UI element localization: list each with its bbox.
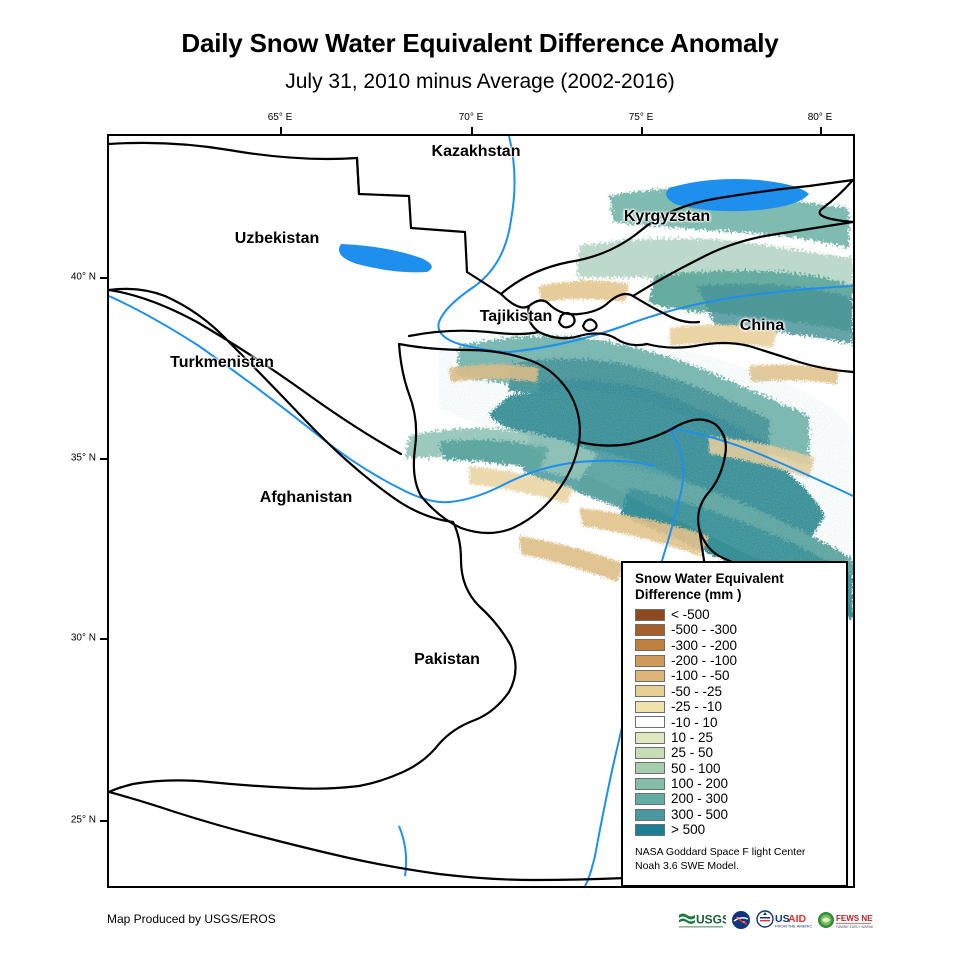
- legend-swatch-6: [635, 701, 665, 713]
- legend-row-6: -25 - -10: [635, 699, 836, 714]
- longitude-tick-label-3: 80° E: [808, 112, 833, 123]
- legend-label-8: 10 - 25: [671, 731, 713, 745]
- usaid-logo: US AID FROM THE AMERICAN PEOPLE: [756, 910, 812, 930]
- legend-row-14: > 500: [635, 822, 836, 837]
- legend-row-7: -10 - 10: [635, 715, 836, 730]
- map-credit: Map Produced by USGS/EROS: [107, 912, 276, 926]
- longitude-tick-mark-2: [641, 127, 643, 134]
- legend-label-1: -500 - -300: [671, 623, 737, 637]
- latitude-tick-mark-1: [100, 458, 107, 460]
- legend-swatch-9: [635, 747, 665, 759]
- legend-row-9: 25 - 50: [635, 745, 836, 760]
- legend-label-9: 25 - 50: [671, 746, 713, 760]
- legend-swatch-10: [635, 762, 665, 774]
- legend-swatch-12: [635, 793, 665, 805]
- legend-title-line1: Snow Water Equivalent: [635, 571, 836, 587]
- legend-row-12: 200 - 300: [635, 792, 836, 807]
- legend-label-4: -100 - -50: [671, 669, 730, 683]
- usgs-logo: USGS: [678, 910, 726, 930]
- legend-swatch-3: [635, 655, 665, 667]
- page-title: Daily Snow Water Equivalent Difference A…: [0, 28, 960, 59]
- svg-text:FEWS NET: FEWS NET: [836, 914, 873, 923]
- svg-text:FROM THE AMERICAN PEOPLE: FROM THE AMERICAN PEOPLE: [775, 924, 812, 929]
- latitude-tick-label-3: 25° N: [56, 815, 96, 826]
- legend-title: Snow Water Equivalent Difference (mm ): [635, 571, 836, 603]
- map-legend: Snow Water Equivalent Difference (mm ) <…: [621, 561, 848, 887]
- legend-label-3: -200 - -100: [671, 654, 737, 668]
- legend-label-6: -25 - -10: [671, 700, 722, 714]
- country-label-uzbekistan: Uzbekistan: [235, 230, 319, 248]
- country-label-afghanistan: Afghanistan: [260, 489, 352, 507]
- latitude-tick-mark-0: [100, 277, 107, 279]
- country-label-pakistan: Pakistan: [414, 651, 480, 669]
- legend-label-7: -10 - 10: [671, 716, 718, 730]
- longitude-tick-mark-1: [471, 127, 473, 134]
- legend-row-8: 10 - 25: [635, 730, 836, 745]
- country-label-kyrgyzstan: Kyrgyzstan: [624, 208, 710, 226]
- legend-title-line2: Difference (mm ): [635, 587, 836, 603]
- country-label-kazakhstan: Kazakhstan: [432, 143, 521, 161]
- latitude-tick-label-1: 35° N: [56, 453, 96, 464]
- longitude-tick-label-0: 65° E: [268, 112, 293, 123]
- latitude-tick-mark-3: [100, 820, 107, 822]
- longitude-tick-mark-3: [820, 127, 822, 134]
- legend-label-2: -300 - -200: [671, 639, 737, 653]
- legend-swatch-7: [635, 716, 665, 728]
- legend-row-3: -200 - -100: [635, 653, 836, 668]
- legend-entries: < -500-500 - -300-300 - -200-200 - -100-…: [635, 607, 836, 838]
- legend-row-10: 50 - 100: [635, 761, 836, 776]
- agency-logos: USGS US AID FROM THE AMERICAN PEOPLE FEW…: [678, 906, 858, 934]
- longitude-tick-mark-0: [280, 127, 282, 134]
- page-subtitle: July 31, 2010 minus Average (2002-2016): [0, 70, 960, 94]
- legend-swatch-13: [635, 809, 665, 821]
- latitude-tick-label-2: 30° N: [56, 633, 96, 644]
- legend-label-0: < -500: [671, 608, 710, 622]
- legend-note-line2: Noah 3.6 SWE Model.: [635, 859, 836, 873]
- latitude-tick-label-0: 40° N: [56, 272, 96, 283]
- legend-row-0: < -500: [635, 607, 836, 622]
- country-label-tajikistan: Tajikistan: [480, 308, 553, 326]
- legend-swatch-1: [635, 624, 665, 636]
- country-label-turkmenistan: Turkmenistan: [170, 354, 274, 372]
- legend-row-2: -300 - -200: [635, 638, 836, 653]
- legend-row-5: -50 - -25: [635, 684, 836, 699]
- legend-label-14: > 500: [671, 823, 705, 837]
- legend-label-12: 200 - 300: [671, 792, 728, 806]
- legend-label-5: -50 - -25: [671, 685, 722, 699]
- legend-row-4: -100 - -50: [635, 668, 836, 683]
- legend-swatch-14: [635, 824, 665, 836]
- svg-text:FAMINE EARLY WARNING SYSTEMS N: FAMINE EARLY WARNING SYSTEMS NETWORK: [836, 925, 873, 929]
- legend-row-1: -500 - -300: [635, 622, 836, 637]
- legend-swatch-8: [635, 732, 665, 744]
- legend-label-13: 300 - 500: [671, 808, 728, 822]
- legend-row-13: 300 - 500: [635, 807, 836, 822]
- longitude-tick-label-2: 75° E: [629, 112, 654, 123]
- svg-text:USGS: USGS: [696, 913, 726, 927]
- legend-swatch-11: [635, 778, 665, 790]
- legend-swatch-4: [635, 670, 665, 682]
- fewsnet-logo: FEWS NET FAMINE EARLY WARNING SYSTEMS NE…: [817, 910, 873, 930]
- legend-swatch-0: [635, 609, 665, 621]
- legend-note-line1: NASA Goddard Space F light Center: [635, 845, 836, 859]
- legend-swatch-5: [635, 685, 665, 697]
- latitude-tick-mark-2: [100, 638, 107, 640]
- legend-note: NASA Goddard Space F light Center Noah 3…: [635, 845, 836, 873]
- legend-swatch-2: [635, 639, 665, 651]
- country-label-china: China: [740, 317, 784, 335]
- legend-label-11: 100 - 200: [671, 777, 728, 791]
- longitude-tick-label-1: 70° E: [459, 112, 484, 123]
- legend-row-11: 100 - 200: [635, 776, 836, 791]
- nasa-logo: [731, 910, 751, 930]
- legend-label-10: 50 - 100: [671, 762, 721, 776]
